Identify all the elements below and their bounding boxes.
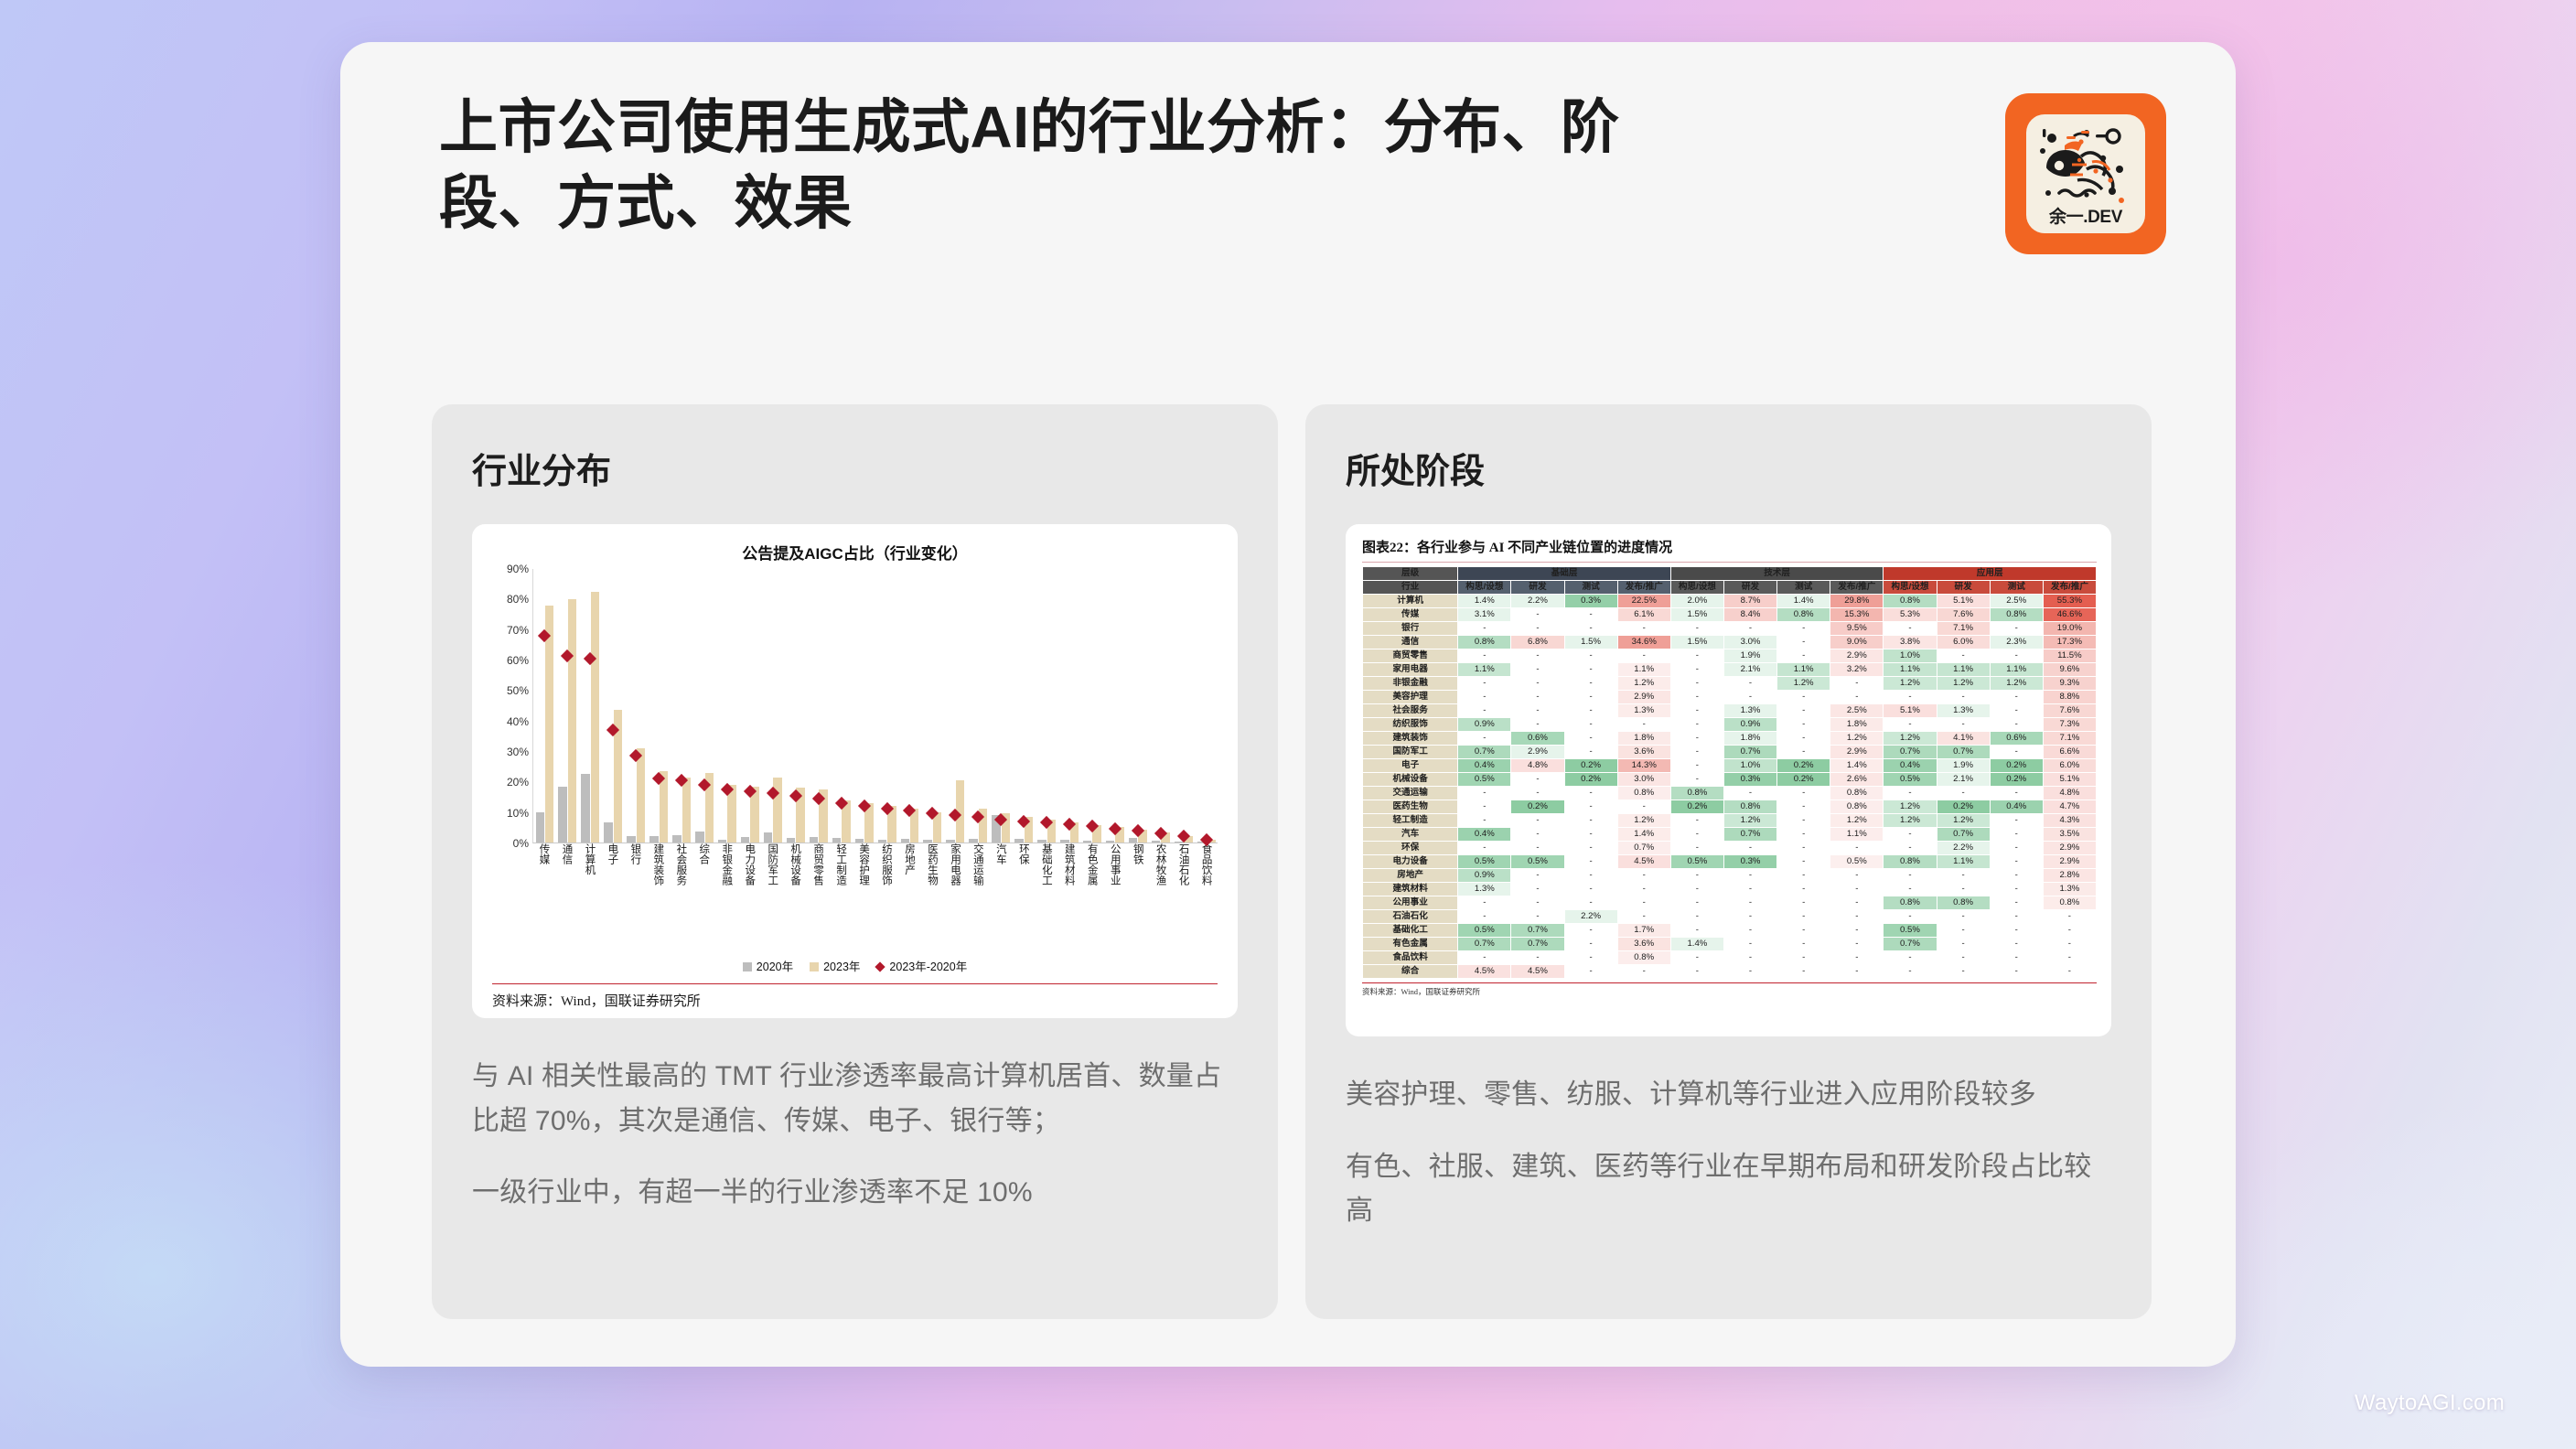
table-value-cell: - bbox=[1884, 690, 1937, 703]
table-value-cell: - bbox=[1511, 909, 1564, 923]
table-value-cell: 5.1% bbox=[1884, 703, 1937, 717]
table-value-cell: 15.3% bbox=[1830, 607, 1884, 621]
chart-x-tick-label: 建筑装饰 bbox=[647, 843, 670, 953]
table-value-cell: 0.7% bbox=[1723, 827, 1776, 841]
table-value-cell: 2.0% bbox=[1670, 594, 1723, 607]
chart-legend: 2020年2023年2023年-2020年 bbox=[492, 957, 1218, 974]
table-value-cell: - bbox=[1670, 868, 1723, 882]
table-value-cell: - bbox=[1777, 800, 1830, 813]
table-row-header-label: 行业 bbox=[1363, 580, 1458, 594]
figure-divider bbox=[1362, 562, 2097, 563]
table-value-cell: - bbox=[1937, 950, 1990, 964]
table-industry-cell: 石油石化 bbox=[1363, 909, 1458, 923]
table-value-cell: - bbox=[1990, 813, 2043, 827]
table-value-cell: 1.2% bbox=[1884, 676, 1937, 690]
table-value-cell: - bbox=[1458, 909, 1511, 923]
table-value-cell: 0.5% bbox=[1458, 772, 1511, 786]
table-value-cell: - bbox=[1564, 731, 1617, 745]
table-value-cell: - bbox=[1723, 621, 1776, 635]
table-value-cell: 5.3% bbox=[1884, 607, 1937, 621]
chart-x-tick-label: 电子 bbox=[601, 843, 624, 953]
table-value-cell: - bbox=[1723, 964, 1776, 978]
table-value-cell: 3.0% bbox=[1723, 635, 1776, 649]
table-value-cell: - bbox=[1511, 827, 1564, 841]
table-value-cell: 0.8% bbox=[1458, 635, 1511, 649]
table-value-cell: - bbox=[1670, 621, 1723, 635]
table-value-cell: - bbox=[1937, 868, 1990, 882]
table-value-cell: 1.8% bbox=[1723, 731, 1776, 745]
table-value-cell: - bbox=[1564, 896, 1617, 909]
table-value-cell: 0.8% bbox=[1884, 594, 1937, 607]
chart-bar-group bbox=[738, 569, 761, 843]
table-value-cell: - bbox=[1884, 950, 1937, 964]
chart-bar-group bbox=[807, 569, 830, 843]
table-row: 综合4.5%4.5%---------- bbox=[1363, 964, 2097, 978]
table-sub-header: 发布/推广 bbox=[2043, 580, 2096, 594]
table-value-cell: - bbox=[1777, 649, 1830, 662]
table-value-cell: - bbox=[2043, 964, 2096, 978]
chart-bar-2020 bbox=[536, 812, 544, 843]
table-value-cell: 8.4% bbox=[1723, 607, 1776, 621]
table-value-cell: - bbox=[1990, 950, 2043, 964]
table-row: 美容护理---2.9%-------8.8% bbox=[1363, 690, 2097, 703]
table-value-cell: 1.2% bbox=[1777, 676, 1830, 690]
table-industry-cell: 建筑装饰 bbox=[1363, 731, 1458, 745]
chart-x-tick-label: 机械设备 bbox=[784, 843, 807, 953]
table-row: 食品饮料---0.8%-------- bbox=[1363, 950, 2097, 964]
chart-bar-group bbox=[784, 569, 807, 843]
table-value-cell: 1.2% bbox=[1617, 676, 1670, 690]
chart-bar-group bbox=[921, 569, 944, 843]
stage-table-figure: 图表22：各行业参与 AI 不同产业链位置的进度情况 层级基础层技术层应用层 行… bbox=[1346, 524, 2111, 1036]
table-value-cell: 2.5% bbox=[1830, 703, 1884, 717]
table-value-cell: 1.2% bbox=[1617, 813, 1670, 827]
table-value-cell: 1.7% bbox=[1617, 923, 1670, 937]
table-row: 建筑装饰-0.6%-1.8%-1.8%-1.2%1.2%4.1%0.6%7.1% bbox=[1363, 731, 2097, 745]
table-value-cell: 0.5% bbox=[1830, 854, 1884, 868]
chart-x-tick-label: 传媒 bbox=[532, 843, 555, 953]
table-value-cell: - bbox=[1670, 717, 1723, 731]
chart-x-tick-label: 商贸零售 bbox=[807, 843, 830, 953]
table-value-cell: 3.0% bbox=[1617, 772, 1670, 786]
table-value-cell: 2.9% bbox=[1830, 745, 1884, 758]
chart-y-tick: 0% bbox=[513, 837, 529, 850]
table-value-cell: - bbox=[1937, 964, 1990, 978]
chart-bars bbox=[533, 569, 1218, 843]
table-value-cell: 0.2% bbox=[1777, 758, 1830, 772]
table-sub-header: 测试 bbox=[1564, 580, 1617, 594]
table-value-cell: 2.2% bbox=[1937, 841, 1990, 854]
panel-heading-right: 所处阶段 bbox=[1346, 443, 2111, 493]
table-value-cell: - bbox=[1884, 841, 1937, 854]
table-value-cell: 0.2% bbox=[1937, 800, 1990, 813]
chart-bar-group bbox=[830, 569, 853, 843]
table-value-cell: 1.2% bbox=[1937, 676, 1990, 690]
chart-bar-2020 bbox=[695, 832, 703, 843]
chart-bar-group bbox=[533, 569, 556, 843]
table-value-cell: - bbox=[1990, 745, 2043, 758]
table-value-cell: - bbox=[1670, 745, 1723, 758]
table-value-cell: 7.1% bbox=[1937, 621, 1990, 635]
table-value-cell: 1.0% bbox=[1723, 758, 1776, 772]
table-value-cell: - bbox=[1777, 937, 1830, 950]
chart-bar-group bbox=[579, 569, 602, 843]
table-value-cell: - bbox=[2043, 923, 2096, 937]
table-row: 纺织服饰0.9%----0.9%-1.8%---7.3% bbox=[1363, 717, 2097, 731]
table-industry-cell: 公用事业 bbox=[1363, 896, 1458, 909]
table-value-cell: - bbox=[1511, 786, 1564, 800]
table-row: 通信0.8%6.8%1.5%34.6%1.5%3.0%-9.0%3.8%6.0%… bbox=[1363, 635, 2097, 649]
table-value-cell: 0.4% bbox=[1458, 758, 1511, 772]
table-value-cell: - bbox=[1564, 937, 1617, 950]
legend-label: 2020年 bbox=[757, 961, 793, 973]
table-value-cell: - bbox=[1564, 717, 1617, 731]
table-row: 轻工制造---1.2%-1.2%-1.2%1.2%1.2%-4.3% bbox=[1363, 813, 2097, 827]
table-value-cell: - bbox=[1884, 621, 1937, 635]
table-value-cell: - bbox=[1777, 813, 1830, 827]
chart-y-tick: 40% bbox=[507, 715, 529, 728]
table-value-cell: - bbox=[1830, 868, 1884, 882]
table-value-cell: - bbox=[1617, 896, 1670, 909]
panel-heading-left: 行业分布 bbox=[472, 443, 1238, 493]
table-value-cell: 1.1% bbox=[1937, 854, 1990, 868]
chart-bar-2020 bbox=[558, 787, 566, 843]
table-value-cell: - bbox=[1617, 800, 1670, 813]
chart-bar-group bbox=[1058, 569, 1081, 843]
table-value-cell: 55.3% bbox=[2043, 594, 2096, 607]
table-value-cell: 0.4% bbox=[1458, 827, 1511, 841]
table-value-cell: 1.9% bbox=[1937, 758, 1990, 772]
table-value-cell: - bbox=[1990, 882, 2043, 896]
table-value-cell: - bbox=[1511, 772, 1564, 786]
table-value-cell: - bbox=[1723, 909, 1776, 923]
chart-bar-group bbox=[875, 569, 898, 843]
table-value-cell: - bbox=[1564, 649, 1617, 662]
panel-industry-distribution: 行业分布 公告提及AIGC占比（行业变化） 0%10%20%30%40%50%6… bbox=[432, 404, 1278, 1319]
table-value-cell: - bbox=[1777, 621, 1830, 635]
table-row: 有色金属0.7%0.7%-3.6%1.4%---0.7%--- bbox=[1363, 937, 2097, 950]
chart-bar-2020 bbox=[810, 837, 818, 843]
table-value-cell: - bbox=[1884, 868, 1937, 882]
table-value-cell: - bbox=[1990, 868, 2043, 882]
body-paragraph: 有色、社服、建筑、医药等行业在早期布局和研发阶段占比较高 bbox=[1346, 1145, 2111, 1234]
table-value-cell: 1.3% bbox=[1617, 703, 1670, 717]
table-value-cell: 17.3% bbox=[2043, 635, 2096, 649]
table-value-cell: - bbox=[1990, 909, 2043, 923]
table-value-cell: - bbox=[1723, 896, 1776, 909]
table-value-cell: 0.5% bbox=[1884, 923, 1937, 937]
table-value-cell: 6.6% bbox=[2043, 745, 2096, 758]
chart-bar-2023 bbox=[682, 778, 691, 843]
right-panel-body: 美容护理、零售、纺服、计算机等行业进入应用阶段较多有色、社服、建筑、医药等行业在… bbox=[1346, 1073, 2111, 1234]
table-value-cell: - bbox=[1830, 909, 1884, 923]
table-value-cell: 0.2% bbox=[1511, 800, 1564, 813]
table-group-header: 应用层 bbox=[1884, 567, 2097, 581]
body-paragraph: 美容护理、零售、纺服、计算机等行业进入应用阶段较多 bbox=[1346, 1073, 2111, 1118]
table-industry-cell: 银行 bbox=[1363, 621, 1458, 635]
chart-bar-2023 bbox=[773, 778, 781, 843]
table-value-cell: - bbox=[1723, 690, 1776, 703]
table-row: 公用事业--------0.8%0.8%-0.8% bbox=[1363, 896, 2097, 909]
table-value-cell: - bbox=[1564, 854, 1617, 868]
table-value-cell: - bbox=[1777, 717, 1830, 731]
table-industry-cell: 计算机 bbox=[1363, 594, 1458, 607]
chart-bar-group bbox=[967, 569, 990, 843]
chart-x-tick-label: 石油石化 bbox=[1172, 843, 1195, 953]
table-value-cell: 1.3% bbox=[1937, 703, 1990, 717]
table-value-cell: 0.8% bbox=[1830, 800, 1884, 813]
body-paragraph: 与 AI 相关性最高的 TMT 行业渗透率最高计算机居首、数量占比超 70%，其… bbox=[472, 1055, 1238, 1143]
table-value-cell: - bbox=[1511, 690, 1564, 703]
chart-y-tick: 10% bbox=[507, 807, 529, 820]
table-value-cell: - bbox=[1458, 649, 1511, 662]
chart-legend-item: 2023年-2020年 bbox=[876, 957, 967, 974]
table-value-cell: - bbox=[1670, 690, 1723, 703]
table-value-cell: - bbox=[1458, 813, 1511, 827]
table-value-cell: 0.7% bbox=[1511, 923, 1564, 937]
table-value-cell: 1.1% bbox=[1830, 827, 1884, 841]
table-value-cell: 4.3% bbox=[2043, 813, 2096, 827]
table-value-cell: - bbox=[2043, 937, 2096, 950]
table-value-cell: - bbox=[1458, 621, 1511, 635]
chart-x-tick-label: 汽车 bbox=[989, 843, 1012, 953]
table-value-cell: - bbox=[1990, 923, 2043, 937]
table-value-cell: - bbox=[1511, 717, 1564, 731]
table-value-cell: 0.2% bbox=[1990, 772, 2043, 786]
table-value-cell: - bbox=[1777, 745, 1830, 758]
chart-plot bbox=[532, 569, 1218, 843]
chart-bar-group bbox=[990, 569, 1013, 843]
table-value-cell: 1.9% bbox=[1723, 649, 1776, 662]
chart-x-tick-label: 医药生物 bbox=[920, 843, 943, 953]
table-value-cell: 0.8% bbox=[1884, 896, 1937, 909]
table-value-cell: 4.5% bbox=[1458, 964, 1511, 978]
table-value-cell: - bbox=[1777, 841, 1830, 854]
panel-stage: 所处阶段 图表22：各行业参与 AI 不同产业链位置的进度情况 层级基础层技术层… bbox=[1305, 404, 2152, 1319]
table-value-cell: 0.5% bbox=[1670, 854, 1723, 868]
chart-bar-group bbox=[1036, 569, 1058, 843]
table-value-cell: - bbox=[1990, 786, 2043, 800]
table-industry-cell: 通信 bbox=[1363, 635, 1458, 649]
chart-bar-2023 bbox=[568, 599, 576, 843]
table-value-cell: 8.8% bbox=[2043, 690, 2096, 703]
chart-bar-2020 bbox=[901, 839, 909, 843]
chart-bar-2020 bbox=[878, 840, 886, 843]
chart-bar-group bbox=[1081, 569, 1104, 843]
chart-bar-group bbox=[671, 569, 693, 843]
chart-bar-2020 bbox=[649, 836, 658, 843]
table-value-cell: - bbox=[1564, 662, 1617, 676]
table-value-cell: 4.5% bbox=[1617, 854, 1670, 868]
table-row: 商贸零售-----1.9%-2.9%1.0%--11.5% bbox=[1363, 649, 2097, 662]
chart-y-tick: 90% bbox=[507, 563, 529, 575]
table-value-cell: 1.2% bbox=[1884, 731, 1937, 745]
chart-bar-2020 bbox=[1106, 841, 1114, 843]
table-value-cell: - bbox=[1937, 649, 1990, 662]
table-value-cell: - bbox=[1937, 882, 1990, 896]
table-value-cell: - bbox=[1830, 690, 1884, 703]
table-value-cell: - bbox=[1777, 690, 1830, 703]
table-industry-cell: 电力设备 bbox=[1363, 854, 1458, 868]
table-row: 家用电器1.1%--1.1%-2.1%1.1%3.2%1.1%1.1%1.1%9… bbox=[1363, 662, 2097, 676]
body-paragraph: 一级行业中，有超一半的行业渗透率不足 10% bbox=[472, 1171, 1238, 1216]
table-value-cell: 0.6% bbox=[1511, 731, 1564, 745]
table-value-cell: 9.6% bbox=[2043, 662, 2096, 676]
table-value-cell: 0.4% bbox=[1990, 800, 2043, 813]
table-value-cell: - bbox=[1458, 676, 1511, 690]
table-value-cell: - bbox=[1564, 621, 1617, 635]
legend-label: 2023年 bbox=[823, 961, 860, 973]
table-value-cell: 1.3% bbox=[1458, 882, 1511, 896]
table-value-cell: - bbox=[1937, 937, 1990, 950]
table-value-cell: 6.8% bbox=[1511, 635, 1564, 649]
table-value-cell: 1.1% bbox=[1990, 662, 2043, 676]
table-value-cell: - bbox=[1458, 731, 1511, 745]
chart-bar-group bbox=[1172, 569, 1195, 843]
chart-bar-2020 bbox=[741, 837, 749, 843]
chart-bar-group bbox=[853, 569, 875, 843]
table-value-cell: 0.7% bbox=[1937, 745, 1990, 758]
table-value-cell: 2.9% bbox=[1830, 649, 1884, 662]
table-value-cell: - bbox=[1777, 896, 1830, 909]
figure-caption: 图表22：各行业参与 AI 不同产业链位置的进度情况 bbox=[1362, 537, 2097, 556]
table-value-cell: 2.8% bbox=[2043, 868, 2096, 882]
table-row: 医药生物-0.2%--0.2%0.8%-0.8%1.2%0.2%0.4%4.7% bbox=[1363, 800, 2097, 813]
chart-bar-2020 bbox=[672, 835, 681, 843]
chart-x-tick-label: 农林牧渔 bbox=[1149, 843, 1172, 953]
table-value-cell: - bbox=[1617, 964, 1670, 978]
fish-circuit-icon bbox=[2026, 114, 2145, 217]
table-value-cell: - bbox=[1511, 950, 1564, 964]
table-value-cell: 22.5% bbox=[1617, 594, 1670, 607]
table-row: 建筑材料1.3%----------1.3% bbox=[1363, 882, 2097, 896]
table-row: 机械设备0.5%-0.2%3.0%-0.3%0.2%2.6%0.5%2.1%0.… bbox=[1363, 772, 2097, 786]
table-value-cell: 0.5% bbox=[1511, 854, 1564, 868]
chart-y-tick: 50% bbox=[507, 684, 529, 697]
table-value-cell: 0.6% bbox=[1990, 731, 2043, 745]
chart-x-tick-label: 电力设备 bbox=[738, 843, 761, 953]
stage-table-body: 计算机1.4%2.2%0.3%22.5%2.0%8.7%1.4%29.8%0.8… bbox=[1363, 594, 2097, 978]
table-value-cell: - bbox=[1564, 841, 1617, 854]
table-value-cell: 1.2% bbox=[1884, 813, 1937, 827]
source-divider bbox=[492, 983, 1218, 984]
table-value-cell: 4.8% bbox=[1511, 758, 1564, 772]
chart-bar-group bbox=[1103, 569, 1126, 843]
table-value-cell: 1.2% bbox=[1830, 731, 1884, 745]
table-value-cell: 1.1% bbox=[1617, 662, 1670, 676]
chart-figure: 公告提及AIGC占比（行业变化） 0%10%20%30%40%50%60%70%… bbox=[472, 524, 1238, 1018]
table-value-cell: - bbox=[1670, 813, 1723, 827]
table-value-cell: - bbox=[1511, 662, 1564, 676]
chart-x-tick-label: 公用事业 bbox=[1103, 843, 1126, 953]
table-value-cell: - bbox=[1830, 896, 1884, 909]
table-sub-header: 构思/设想 bbox=[1670, 580, 1723, 594]
table-value-cell: 0.3% bbox=[1564, 594, 1617, 607]
table-value-cell: - bbox=[1884, 786, 1937, 800]
table-value-cell: - bbox=[1990, 690, 2043, 703]
chart-x-tick-label: 家用电器 bbox=[943, 843, 966, 953]
chart-source: 资料来源：Wind，国联证券研究所 bbox=[492, 991, 1218, 1010]
chart-x-tick-label: 钢铁 bbox=[1126, 843, 1149, 953]
table-industry-cell: 国防军工 bbox=[1363, 745, 1458, 758]
table-value-cell: 9.5% bbox=[1830, 621, 1884, 635]
table-value-cell: - bbox=[1830, 882, 1884, 896]
table-value-cell: 0.5% bbox=[1458, 854, 1511, 868]
chart-y-tick: 30% bbox=[507, 746, 529, 758]
table-value-cell: 0.5% bbox=[1458, 923, 1511, 937]
table-industry-cell: 传媒 bbox=[1363, 607, 1458, 621]
table-value-cell: 0.8% bbox=[1670, 786, 1723, 800]
table-value-cell: - bbox=[1990, 841, 2043, 854]
table-value-cell: 1.1% bbox=[1937, 662, 1990, 676]
table-value-cell: 4.7% bbox=[2043, 800, 2096, 813]
table-value-cell: - bbox=[1777, 882, 1830, 896]
chart-bar-2020 bbox=[604, 822, 612, 843]
table-source: 资料来源：Wind，国联证券研究所 bbox=[1362, 986, 2097, 997]
table-value-cell: - bbox=[1723, 950, 1776, 964]
table-value-cell: 0.8% bbox=[2043, 896, 2096, 909]
table-value-cell: 1.4% bbox=[1617, 827, 1670, 841]
table-value-cell: - bbox=[1777, 827, 1830, 841]
chart-bar-group bbox=[1126, 569, 1149, 843]
table-value-cell: 0.9% bbox=[1458, 717, 1511, 731]
table-value-cell: - bbox=[1670, 731, 1723, 745]
table-value-cell: 1.4% bbox=[1458, 594, 1511, 607]
table-value-cell: - bbox=[1564, 882, 1617, 896]
table-value-cell: 1.8% bbox=[1830, 717, 1884, 731]
chart-bar-group bbox=[1013, 569, 1036, 843]
table-value-cell: - bbox=[1458, 800, 1511, 813]
logo-wordmark: 余一.DEV bbox=[2026, 203, 2145, 228]
table-row: 计算机1.4%2.2%0.3%22.5%2.0%8.7%1.4%29.8%0.8… bbox=[1363, 594, 2097, 607]
table-value-cell: 9.0% bbox=[1830, 635, 1884, 649]
table-value-cell: - bbox=[1990, 964, 2043, 978]
chart-x-tick-label: 纺织服饰 bbox=[875, 843, 898, 953]
table-row: 环保---0.7%-----2.2%-2.9% bbox=[1363, 841, 2097, 854]
table-value-cell: - bbox=[1564, 690, 1617, 703]
table-value-cell: - bbox=[1670, 662, 1723, 676]
table-industry-cell: 基础化工 bbox=[1363, 923, 1458, 937]
table-value-cell: - bbox=[1564, 868, 1617, 882]
chart-y-tick: 60% bbox=[507, 654, 529, 667]
table-value-cell: 11.5% bbox=[2043, 649, 2096, 662]
chart-x-tick-label: 交通运输 bbox=[966, 843, 989, 953]
table-row: 非银金融---1.2%--1.2%-1.2%1.2%1.2%9.3% bbox=[1363, 676, 2097, 690]
table-corner-header: 层级 bbox=[1363, 567, 1458, 581]
table-value-cell: 7.1% bbox=[2043, 731, 2096, 745]
page-title: 上市公司使用生成式AI的行业分析：分布、阶段、方式、效果 bbox=[439, 90, 1701, 241]
slide-header: 上市公司使用生成式AI的行业分析：分布、阶段、方式、效果 bbox=[439, 90, 2166, 300]
chart-bar-2020 bbox=[946, 840, 954, 843]
table-value-cell: - bbox=[1723, 937, 1776, 950]
table-value-cell: - bbox=[1670, 703, 1723, 717]
table-value-cell: - bbox=[1670, 827, 1723, 841]
chart-bar-2020 bbox=[1152, 841, 1160, 843]
table-sub-header: 测试 bbox=[1777, 580, 1830, 594]
table-value-cell: 0.4% bbox=[1884, 758, 1937, 772]
table-value-cell: - bbox=[1511, 813, 1564, 827]
table-value-cell: 2.9% bbox=[1617, 690, 1670, 703]
table-value-cell: - bbox=[1670, 896, 1723, 909]
chart-bar-2020 bbox=[923, 840, 931, 843]
table-value-cell: - bbox=[1990, 649, 2043, 662]
table-value-cell: 0.8% bbox=[1830, 786, 1884, 800]
table-value-cell: - bbox=[1564, 676, 1617, 690]
table-value-cell: - bbox=[1777, 854, 1830, 868]
table-industry-cell: 商贸零售 bbox=[1363, 649, 1458, 662]
table-industry-cell: 交通运输 bbox=[1363, 786, 1458, 800]
table-value-cell: - bbox=[1670, 649, 1723, 662]
